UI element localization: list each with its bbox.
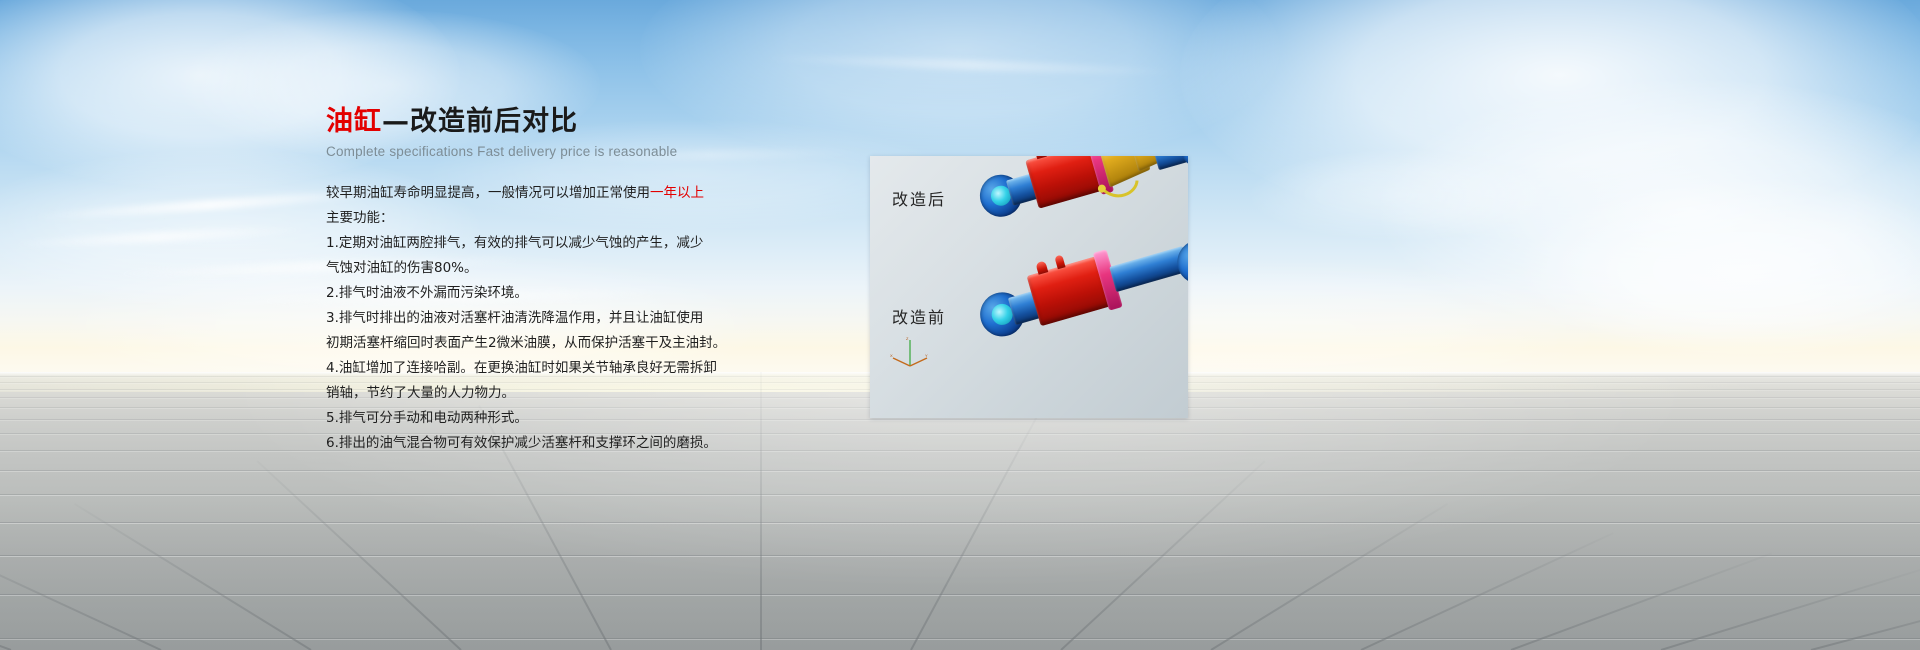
- body-line-text: 5.排气可分手动和电动两种形式。: [326, 410, 528, 426]
- page-subtitle: Complete specifications Fast delivery pr…: [326, 144, 756, 159]
- body-line: 销轴，节约了大量的人力物力。: [326, 381, 756, 406]
- pavement-seam-horizontal: [0, 419, 1920, 420]
- body-line: 1.定期对油缸两腔排气，有效的排气可以减少气蚀的产生，减少: [326, 231, 756, 256]
- pavement-seam-radial: [1361, 532, 1614, 650]
- body-line: 5.排气可分手动和电动两种形式。: [326, 406, 756, 431]
- pavement-seam-horizontal: [0, 470, 1920, 471]
- pavement-seam-radial: [0, 552, 11, 650]
- pavement-seam-radial: [1511, 552, 1772, 650]
- cloud-streak: [10, 224, 310, 250]
- body-line: 主要功能：: [326, 206, 756, 231]
- body-line: 初期活塞杆缩回时表面产生2微米油膜，从而保护活塞干及主油封。: [326, 331, 756, 356]
- pavement-seam-horizontal: [0, 433, 1920, 434]
- label-before-modification: 改造前: [892, 304, 946, 328]
- pavement-seam-horizontal: [0, 594, 1920, 595]
- body-line: 较早期油缸寿命明显提高，一般情况可以增加正常使用一年以上: [326, 181, 756, 206]
- pavement-seam-radial: [910, 405, 1044, 650]
- body-line: 3.排气时排出的油液对活塞杆油清洗降温作用，并且让油缸使用: [326, 306, 756, 331]
- pavement-seam-horizontal: [0, 522, 1920, 523]
- body-line: 6.排出的油气混合物可有效保护减少活塞杆和支撑环之间的磨损。: [326, 431, 756, 456]
- body-line-highlight: 一年以上: [650, 185, 704, 201]
- body-line: 气蚀对油缸的伤害80%。: [326, 256, 756, 281]
- cloud-streak: [760, 53, 1180, 78]
- body-line-text: 4.油缸增加了连接哈副。在更换油缸时如果关节轴承良好无需拆卸: [326, 360, 717, 376]
- body-line: 4.油缸增加了连接哈副。在更换油缸时如果关节轴承良好无需拆卸: [326, 356, 756, 381]
- body-line-text: 主要功能：: [326, 210, 394, 226]
- body-line-text: 6.排出的油气混合物可有效保护减少活塞杆和支撑环之间的磨损。: [326, 435, 717, 451]
- banner-text-block: 油缸—改造前后对比 Complete specifications Fast d…: [326, 106, 756, 456]
- svg-text:Z: Z: [906, 336, 909, 341]
- body-line-text: 1.定期对油缸两腔排气，有效的排气可以减少气蚀的产生，减少: [326, 235, 703, 251]
- label-after-modification: 改造后: [892, 186, 946, 210]
- svg-text:Y: Y: [925, 353, 928, 358]
- banner-body-text: 较早期油缸寿命明显提高，一般情况可以增加正常使用一年以上主要功能：1.定期对油缸…: [326, 181, 756, 456]
- body-line: 2.排气时油液不外漏而污染环境。: [326, 281, 756, 306]
- title-highlight: 油缸: [326, 106, 382, 137]
- body-line-text: 3.排气时排出的油液对活塞杆油清洗降温作用，并且让油缸使用: [326, 310, 703, 326]
- coordinate-axis-icon: Z X Y: [890, 336, 930, 370]
- svg-text:X: X: [890, 353, 893, 358]
- product-image-panel[interactable]: 改造后 改造前 Z X Y: [870, 156, 1188, 418]
- cloud-shape: [1180, 0, 1920, 240]
- page-title: 油缸—改造前后对比: [326, 106, 756, 138]
- pavement-seam-radial: [760, 372, 762, 650]
- hero-banner: 油缸—改造前后对比 Complete specifications Fast d…: [0, 0, 1920, 650]
- body-line-text: 较早期油缸寿命明显提高，一般情况可以增加正常使用: [326, 185, 650, 201]
- pavement-seam-horizontal: [0, 494, 1920, 495]
- body-line-text: 气蚀对油缸的伤害80%。: [326, 260, 478, 276]
- body-line-text: 初期活塞杆缩回时表面产生2微米油膜，从而保护活塞干及主油封。: [326, 335, 726, 351]
- exhaust-hose: [1048, 156, 1184, 229]
- cylinder-rod-right: [1109, 246, 1188, 292]
- pavement-seam-horizontal: [0, 450, 1920, 451]
- title-rest: —改造前后对比: [382, 106, 578, 137]
- pavement-seam-radial: [1811, 578, 1920, 650]
- body-line-text: 销轴，节约了大量的人力物力。: [326, 385, 515, 401]
- cloud-shape: [1250, 150, 1550, 240]
- pavement-seam-radial: [0, 532, 161, 650]
- body-line-text: 2.排气时油液不外漏而污染环境。: [326, 285, 528, 301]
- pavement-seam-horizontal: [0, 638, 1920, 639]
- cloud-shape: [1380, 80, 1920, 340]
- cloud-shape: [1520, 180, 1920, 360]
- pavement-seam-radial: [1210, 503, 1448, 650]
- pavement-seam-radial: [74, 503, 312, 650]
